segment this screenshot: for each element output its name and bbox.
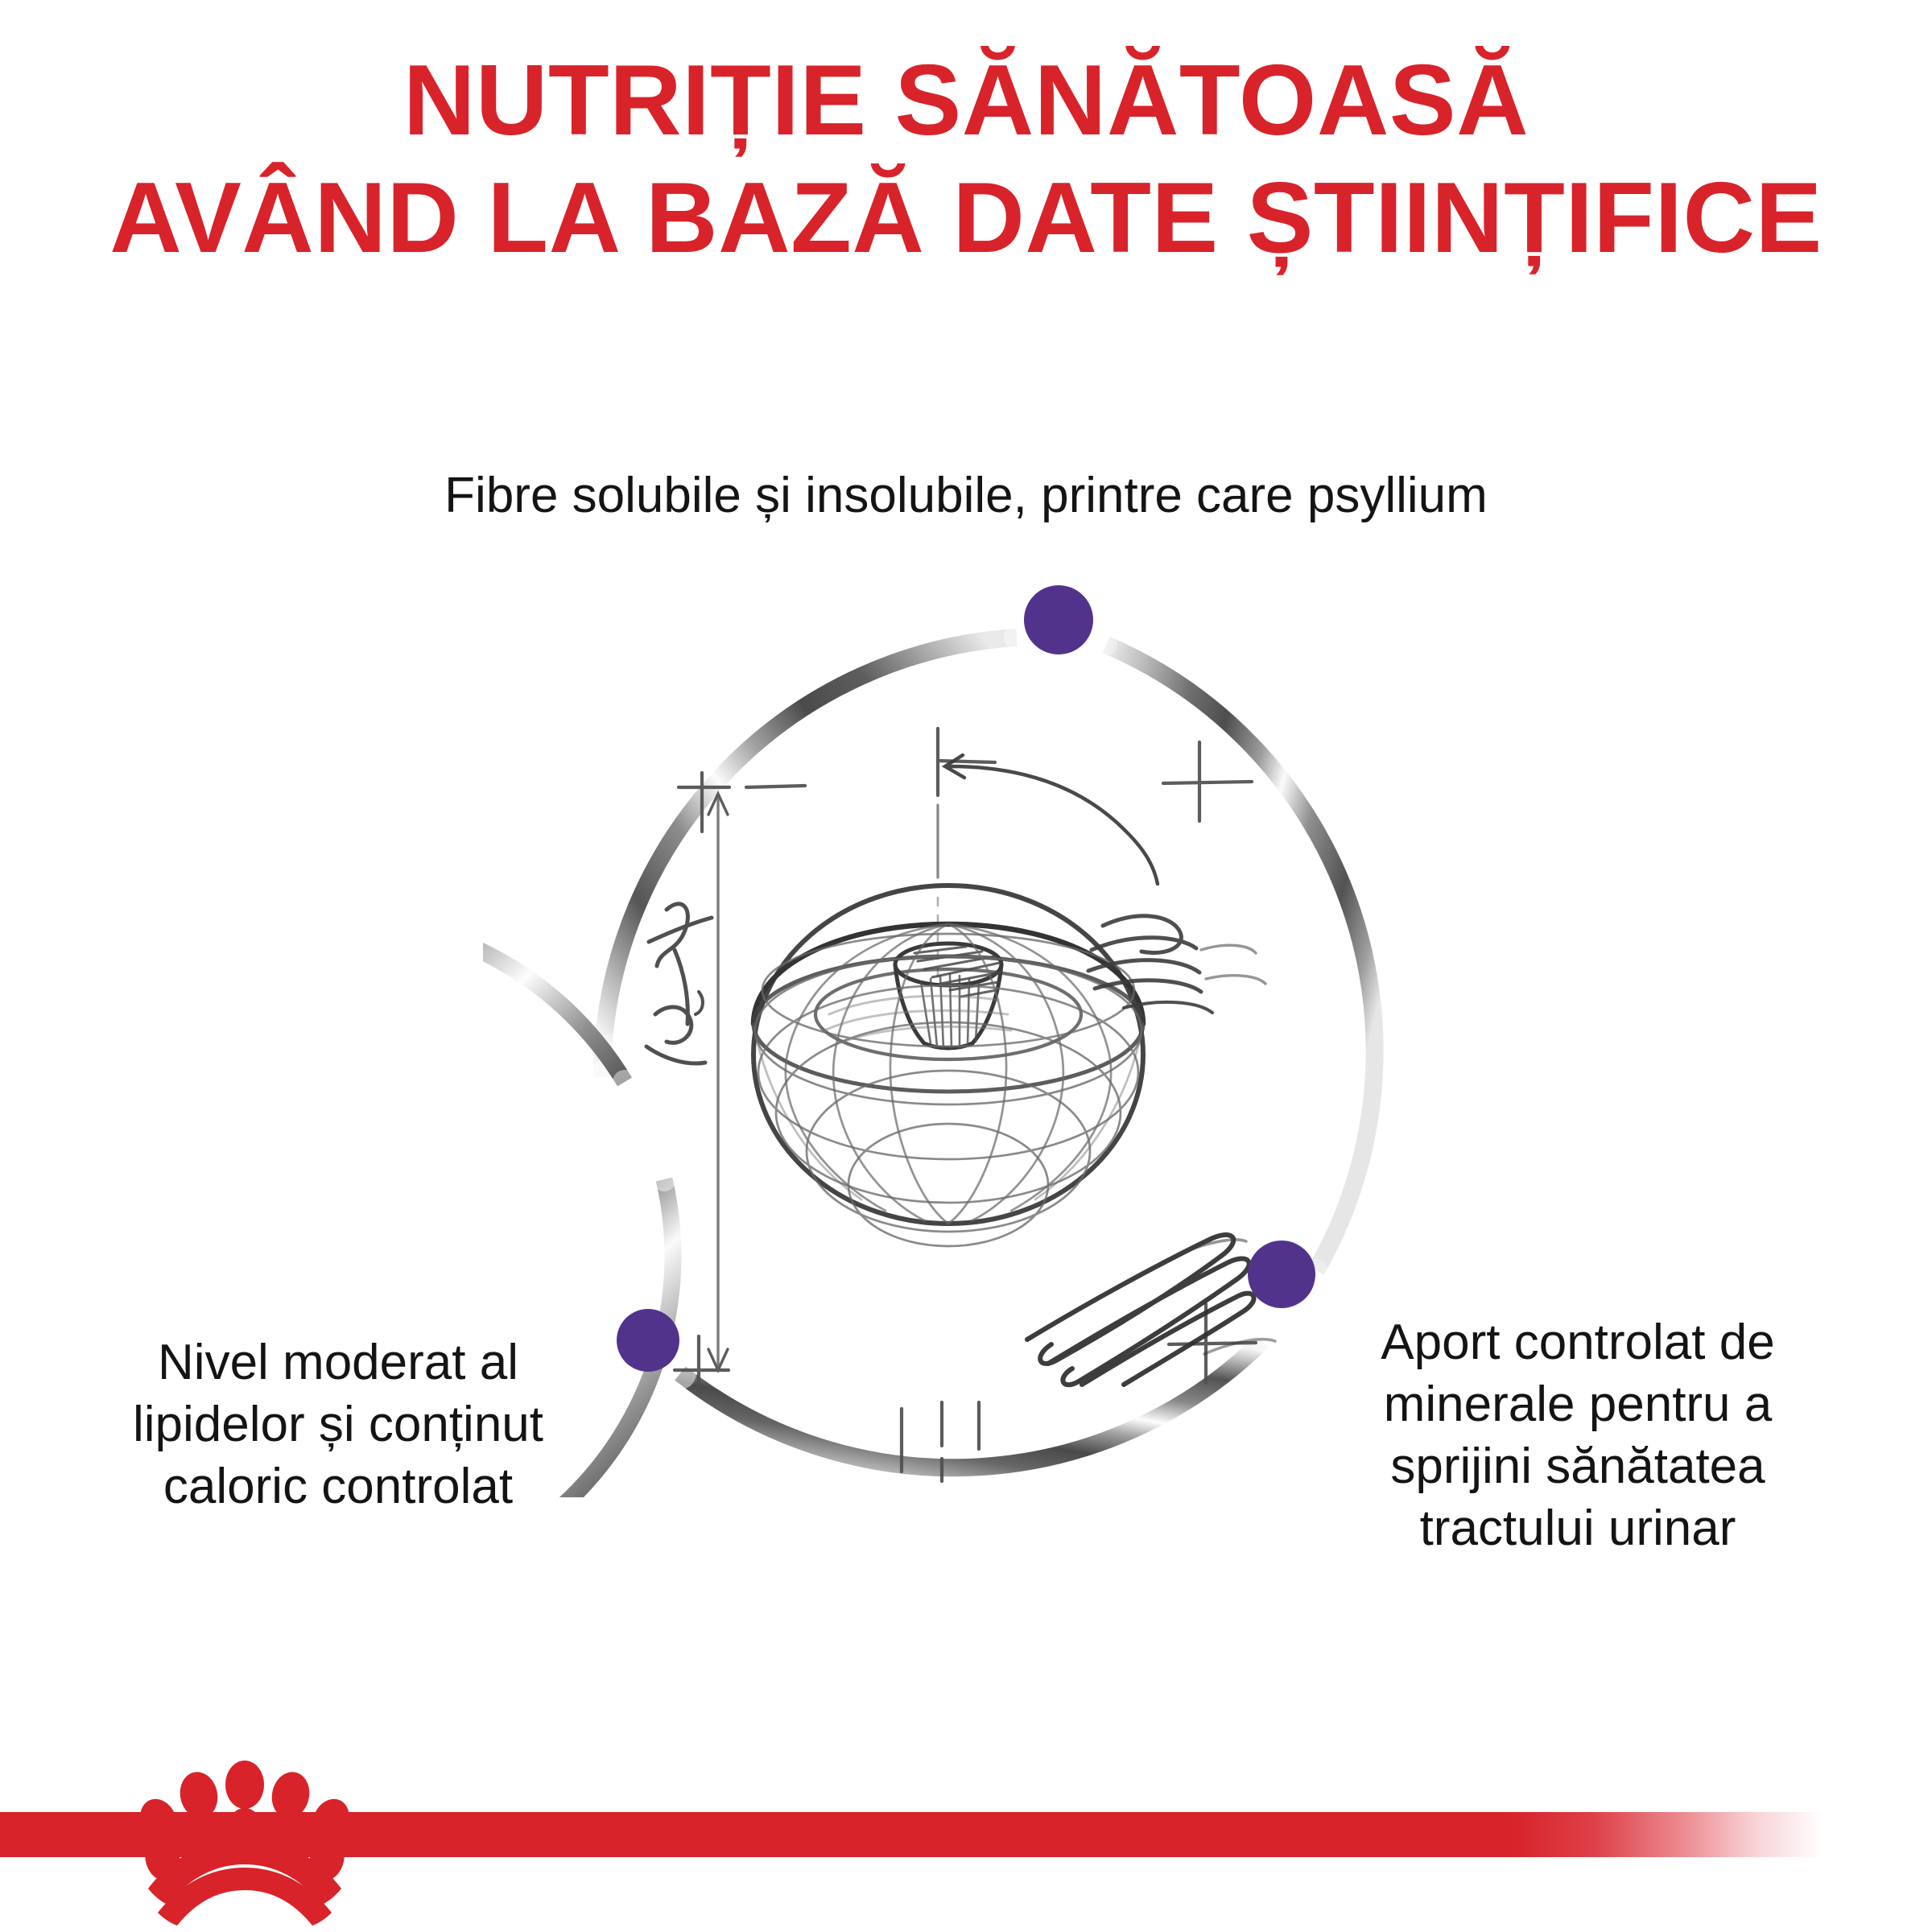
royal-canin-crown-logo: [135, 1760, 354, 1929]
outer-ring-arc-2: [1106, 645, 1375, 1270]
purple-dot-marker-top[interactable]: [1024, 585, 1093, 654]
purple-dot-marker-bottom-left[interactable]: [617, 1309, 679, 1372]
crown-pearl-top-right: [267, 1769, 313, 1822]
crown-pearl-top-left: [175, 1769, 221, 1822]
outer-ring-arc-fades: [586, 625, 1327, 1389]
outer-ring-arc-3: [680, 1341, 1262, 1468]
sketch-emphasis-hatch-right: [1088, 916, 1265, 1013]
crown-logo-shape: [135, 1761, 354, 1926]
page-title: NUTRIȚIE SĂNĂTOASĂ AVÂND LA BAZĂ DATE ȘT…: [0, 42, 1932, 278]
page-title-line-2: AVÂND LA BAZĂ DATE ȘTIINȚIFICE: [0, 159, 1932, 277]
callout-label-lipide: Nivel moderat al lipidelor și conținut c…: [72, 1332, 604, 1518]
crown-pearl-top-center: [225, 1761, 264, 1809]
nutrition-benefits-diagram: [483, 531, 1449, 1497]
callout-label-fibre: Fibre solubile și insolubile, printre ca…: [0, 465, 1932, 527]
callout-label-minerale: Aport controlat de minerale pentru a spr…: [1320, 1312, 1835, 1560]
sketch-leader-arrow: [945, 755, 1158, 884]
kibble-torus-sketch-icon: [646, 729, 1275, 1481]
page-title-line-1: NUTRIȚIE SĂNĂTOASĂ: [0, 42, 1932, 159]
kibble-interior-shading: [824, 996, 1011, 1046]
purple-dot-marker-bottom-right[interactable]: [1248, 1241, 1315, 1308]
